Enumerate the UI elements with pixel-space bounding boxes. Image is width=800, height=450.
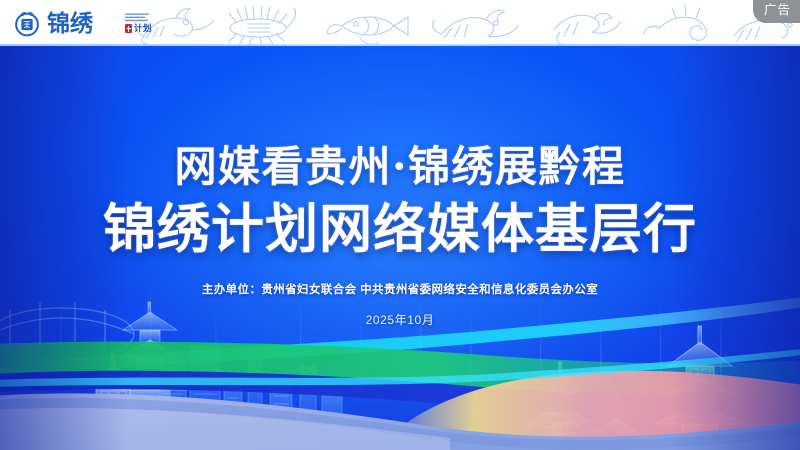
logo-red-mark-icon [125, 24, 132, 33]
ad-badge[interactable]: 广告 [753, 0, 800, 23]
jinxiu-circular-emblem-icon [12, 8, 42, 38]
logo-english-tagline-icon [125, 13, 151, 22]
poster-stage: 网媒看贵州·锦绣展黔程 锦绣计划网络媒体基层行 主办单位：贵州省妇女联合会 中共… [0, 44, 800, 450]
logo-plan-label: 计划 [134, 24, 152, 33]
scenery-illustration [0, 44, 800, 450]
promo-poster: 网媒看贵州·锦绣展黔程 锦绣计划网络媒体基层行 主办单位：贵州省妇女联合会 中共… [0, 0, 800, 450]
logo-sub-block: 计划 [125, 13, 152, 33]
miao-embroidery-pattern-icon [130, 0, 800, 46]
banner-underline [0, 44, 800, 46]
logo-plan-row: 计划 [125, 24, 152, 33]
jinxiu-wordmark-icon: 锦绣 [47, 10, 119, 36]
top-banner: 锦绣 计划 广告 [0, 0, 800, 46]
wordmark-text: 锦绣 [47, 10, 94, 36]
jinxiu-logo[interactable]: 锦绣 计划 [12, 7, 152, 39]
